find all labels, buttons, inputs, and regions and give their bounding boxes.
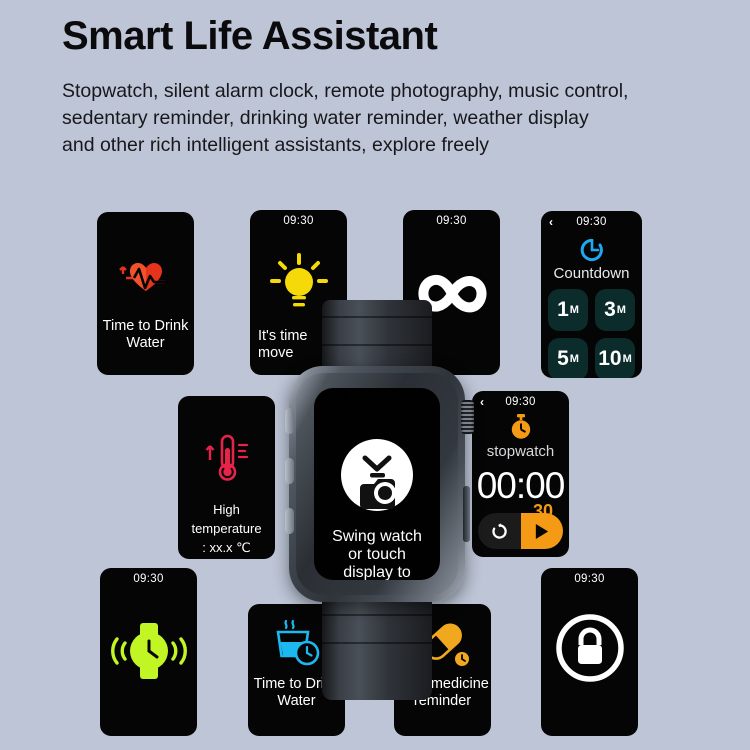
countdown-preset-1m[interactable]: 1M (548, 289, 588, 331)
countdown-preset-5m[interactable]: 5M (548, 338, 588, 378)
subtitle-line-1: Stopwatch, silent alarm clock, remote ph… (62, 78, 712, 105)
status-time: 09:30 (472, 396, 569, 408)
heartbeat-icon (97, 258, 194, 298)
screen-drink-water-heart[interactable]: Time to Drink Water (97, 212, 194, 375)
caption: High temperature : xx.x ℃ (178, 500, 275, 557)
watch-case: 09:30 Swing watch or touch (289, 366, 465, 602)
screen-lock[interactable]: 09:30 (541, 568, 638, 736)
subtitle-line-3: and other rich intelligent assistants, e… (62, 132, 712, 159)
watch-bezel: 09:30 Swing watch or touch (296, 373, 458, 595)
watch-crown[interactable] (461, 400, 474, 434)
promo-page: Smart Life Assistant Stopwatch, silent a… (0, 0, 750, 750)
stopwatch-elapsed: 00:00 (472, 465, 569, 507)
caption: Time to Drink Water (97, 318, 194, 352)
countdown-title: Countdown (541, 265, 642, 282)
status-time: 09:30 (403, 215, 500, 227)
stopwatch-reset-button[interactable] (478, 513, 521, 549)
page-title: Smart Life Assistant (62, 14, 437, 59)
main-smartwatch[interactable]: 09:30 Swing watch or touch (289, 300, 465, 700)
countdown-timer-icon (541, 237, 642, 263)
caption: Swing watch or touch display to photogra… (314, 528, 440, 580)
screen-silent-alarm[interactable]: 09:30 (100, 568, 197, 736)
thermometer-icon (178, 430, 275, 488)
page-subtitle: Stopwatch, silent alarm clock, remote ph… (62, 78, 712, 159)
status-time: 09:30 (541, 573, 638, 585)
stopwatch-play-button[interactable] (521, 513, 564, 549)
watch-side-button[interactable] (463, 486, 470, 542)
vibrating-watch-alarm-icon (100, 618, 197, 684)
countdown-preset-10m[interactable]: 10M (595, 338, 635, 378)
stopwatch-controls[interactable] (478, 513, 563, 549)
countdown-presets[interactable]: 1M 3M 5M 10M (548, 289, 635, 378)
reset-icon (490, 522, 509, 541)
status-time: 09:30 (541, 216, 642, 228)
stopwatch-title: stopwatch (472, 443, 569, 460)
subtitle-line-2: sedentary reminder, drinking water remin… (62, 105, 712, 132)
status-time: 09:30 (314, 388, 440, 403)
countdown-preset-3m[interactable]: 3M (595, 289, 635, 331)
stopwatch-icon (472, 413, 569, 441)
screen-stopwatch[interactable]: ‹ 09:30 stopwatch 00:00 30 (472, 391, 569, 557)
status-time: 09:30 (250, 215, 347, 227)
lock-circle-icon (541, 612, 638, 684)
screen-high-temperature[interactable]: High temperature : xx.x ℃ (178, 396, 275, 559)
watch-screen[interactable]: 09:30 Swing watch or touch (314, 388, 440, 580)
play-icon (533, 522, 550, 541)
status-time: 09:30 (100, 573, 197, 585)
screen-countdown[interactable]: ‹ 09:30 Countdown 1M 3M 5M 10M (541, 211, 642, 378)
camera-swing-icon (314, 432, 440, 518)
